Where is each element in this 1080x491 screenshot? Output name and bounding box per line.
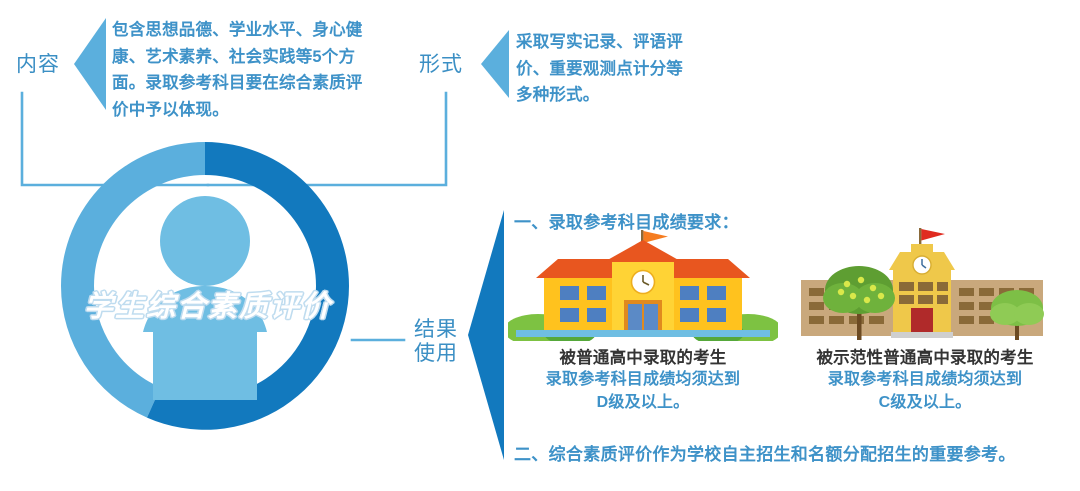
window xyxy=(680,308,699,322)
window xyxy=(680,286,699,300)
window xyxy=(829,316,844,324)
window xyxy=(959,302,974,310)
school-caption-blue-0: 录取参考科目成绩均须达到 D级及以上。 xyxy=(498,368,788,414)
window xyxy=(707,308,726,322)
school-caption-dark-1: 被示范性普通高中录取的考生 xyxy=(790,344,1060,368)
arrow-left-icon-form xyxy=(481,30,511,98)
window xyxy=(587,308,606,322)
window xyxy=(937,282,948,291)
window xyxy=(899,295,914,304)
door-left xyxy=(628,304,642,330)
window xyxy=(937,295,948,304)
window xyxy=(809,302,824,310)
tower-top xyxy=(911,244,933,254)
ground-strip xyxy=(516,330,770,337)
window xyxy=(587,286,606,300)
window xyxy=(918,295,933,304)
window xyxy=(959,288,974,296)
school-caption-blue-line2-1: C级及以上。 xyxy=(780,391,1070,414)
school-caption-blue-line2-0: D级及以上。 xyxy=(498,391,788,414)
window xyxy=(979,288,994,296)
door xyxy=(911,308,933,336)
infographic-canvas: 内容 包含思想品德、学业水平、身心健康、艺术素养、社会实践等5个方面。录取参考科… xyxy=(0,0,1080,491)
window xyxy=(809,316,824,324)
results-heading-two: 二、综合素质评价作为学校自主招生和名额分配招生的重要参考。 xyxy=(514,440,1016,465)
ordinary-high-school-icon xyxy=(508,226,778,341)
flag xyxy=(921,229,945,241)
branch-text-content: 包含思想品德、学业水平、身心健康、艺术素养、社会实践等5个方面。录取参考科目要在… xyxy=(112,17,370,124)
window xyxy=(869,316,884,324)
page-title: 学生综合素质评价 xyxy=(58,283,358,325)
school-caption-blue-line1-0: 录取参考科目成绩均须达到 xyxy=(498,368,788,391)
window xyxy=(918,282,933,291)
window xyxy=(560,286,579,300)
window xyxy=(849,316,864,324)
arrow-left-icon-content xyxy=(74,18,108,110)
branch-label-form[interactable]: 形式 xyxy=(419,53,463,77)
flag xyxy=(643,231,668,243)
window xyxy=(809,288,824,296)
branch-label-result[interactable]: 结果 使用 xyxy=(414,318,458,367)
school-caption-blue-1: 录取参考科目成绩均须达到 C级及以上。 xyxy=(780,368,1070,414)
arrow-left-icon-result xyxy=(464,210,506,460)
window xyxy=(560,308,579,322)
window xyxy=(959,316,974,324)
tree-trunk xyxy=(857,310,862,340)
roof-center xyxy=(604,240,682,262)
ground-strip xyxy=(891,332,953,338)
branch-label-content[interactable]: 内容 xyxy=(16,53,60,77)
branch-text-form: 采取写实记录、评语评价、重要观测点计分等多种形式。 xyxy=(516,29,696,109)
window xyxy=(899,282,914,291)
school-caption-blue-line1-1: 录取参考科目成绩均须达到 xyxy=(780,368,1070,391)
model-high-school-icon xyxy=(795,222,1050,342)
door-right xyxy=(644,304,658,330)
window xyxy=(707,286,726,300)
school-caption-dark-0: 被普通高中录取的考生 xyxy=(508,344,778,368)
